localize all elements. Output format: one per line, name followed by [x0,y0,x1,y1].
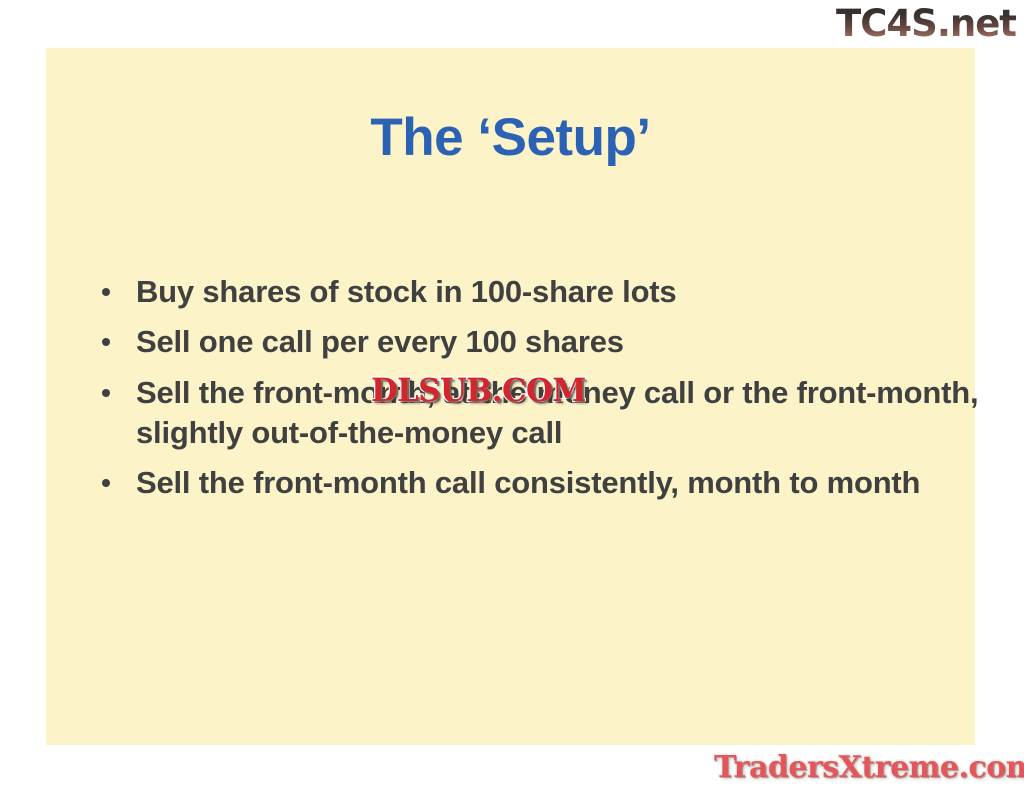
bullet-text: Buy shares of stock in 100-share lots [136,272,994,312]
bullet-point-icon [102,389,110,397]
bullet-text: Sell the front-month call consistently, … [136,463,994,503]
list-item: Sell the front-month call consistently, … [94,463,994,503]
tc4s-net-logo: TC4S.net [836,2,1016,45]
dlsub-com-watermark: DLSUB.COM [371,371,586,409]
bullet-text: Sell one call per every 100 shares [136,322,994,362]
list-item: Buy shares of stock in 100-share lots [94,272,994,312]
tradersxtreme-com-watermark: TradersXtreme.com [714,750,1024,785]
list-item: Sell one call per every 100 shares [94,322,994,362]
bullet-point-icon [102,288,110,296]
slide-title: The ‘Setup’ [46,110,975,166]
bullet-point-icon [102,479,110,487]
bullet-point-icon [102,338,110,346]
